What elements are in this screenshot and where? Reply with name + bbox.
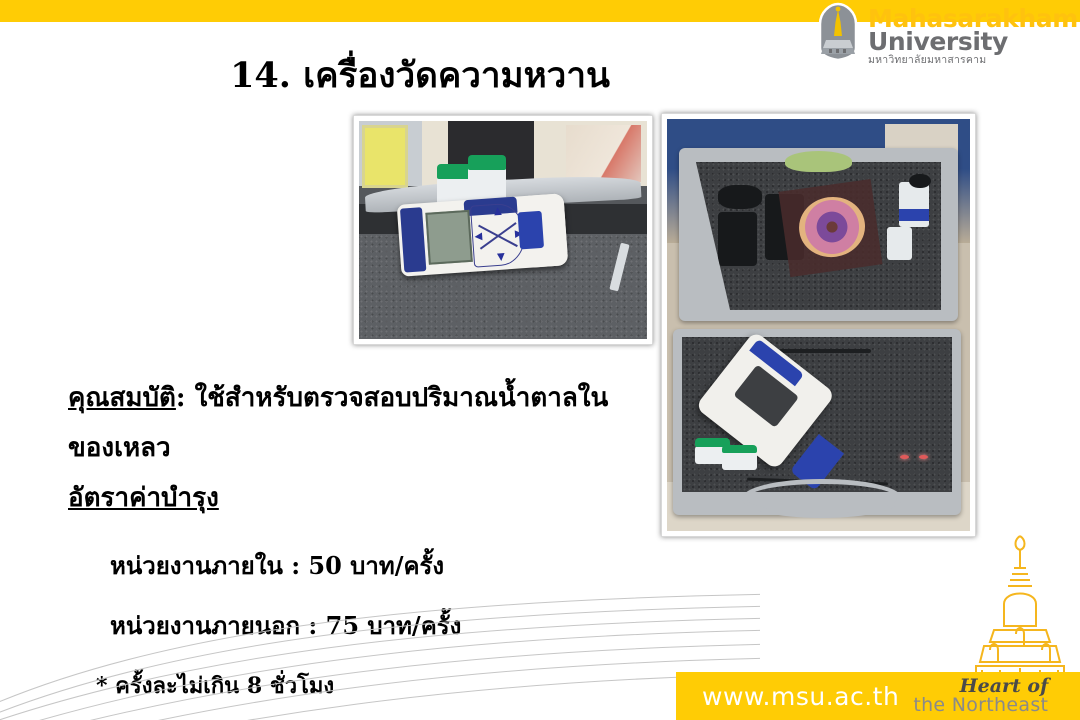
property-line-1: คุณสมบัติ: ใช้สำหรับตรวจสอบปริมาณน้ำตาลใ… (68, 377, 608, 418)
photo-open-carry-case (661, 113, 976, 537)
rate-heading: อัตราค่าบำรุง (68, 477, 219, 518)
property-text: : ใช้สำหรับตรวจสอบปริมาณน้ำตาลใน (176, 383, 608, 413)
footer-bar: www.msu.ac.th Heart of the Northeast (676, 672, 1080, 720)
slogan-the-northeast: the Northeast (913, 696, 1048, 715)
stupa-watermark-icon (960, 530, 1080, 690)
property-line-2: ของเหลว (68, 427, 171, 468)
fee-internal: หน่วยงานภายใน : 50 บาท/ครั้ง (110, 546, 444, 585)
footer-slogan: Heart of the Northeast (913, 677, 1048, 716)
page-title: 14. เครื่องวัดความหวาน (0, 48, 1080, 103)
fee-external: หน่วยงานภายนอก : 75 บาท/ครั้ง (110, 606, 461, 645)
property-label: คุณสมบัติ (68, 383, 176, 413)
photo-meter-on-foam: ▲ ▼ ◀ ▶ (353, 115, 653, 345)
footer-website-url[interactable]: www.msu.ac.th (702, 682, 899, 711)
usage-note: * ครั้งละไม่เกิน 8 ชั่วโมง (96, 668, 334, 703)
slide-canvas: Mahasarakham University มหาวิทยาลัยมหาสา… (0, 0, 1080, 720)
